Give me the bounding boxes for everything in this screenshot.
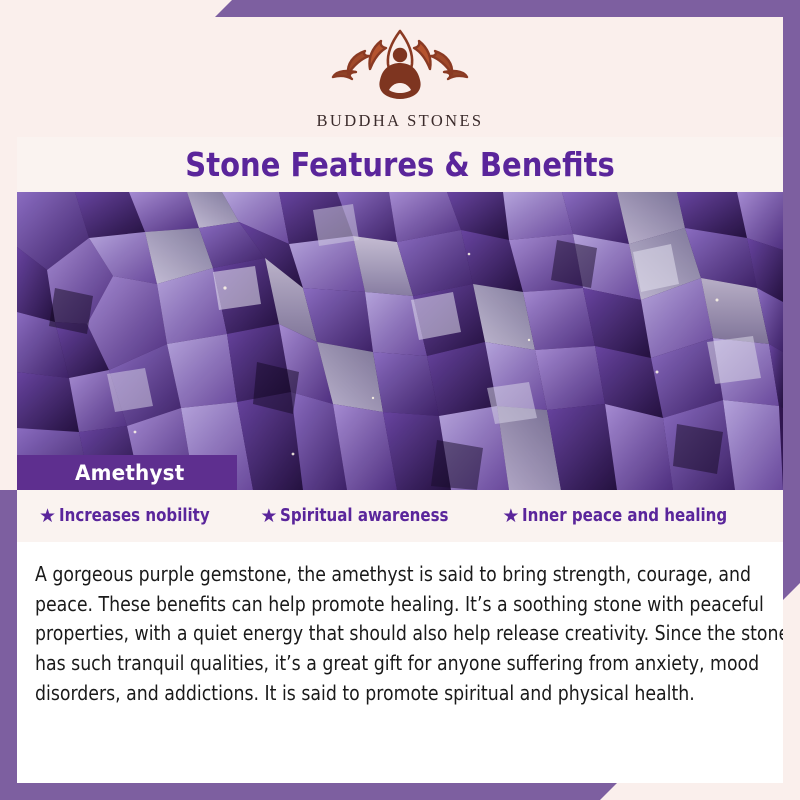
frame-band-right — [783, 0, 800, 600]
benefit-label: Spiritual awareness — [280, 506, 449, 526]
crystal-texture — [17, 192, 783, 490]
description-section: A gorgeous purple gemstone, the amethyst… — [17, 542, 783, 783]
stone-name-banner: Amethyst — [17, 455, 237, 490]
frame-band-top — [215, 0, 800, 17]
star-icon: ★ — [39, 507, 56, 526]
frame-band-left — [0, 490, 17, 800]
lotus-meditation-icon — [325, 25, 475, 109]
frame-band-bottom — [0, 783, 617, 800]
benefit-label: Inner peace and healing — [522, 506, 727, 526]
amethyst-crystal-cluster-photo: Amethyst — [17, 192, 783, 490]
page-title: Stone Features & Benefits — [185, 145, 614, 184]
benefit-label: Increases nobility — [59, 506, 210, 526]
brand-header: BUDDHA STONES — [17, 17, 783, 137]
star-icon: ★ — [502, 507, 519, 526]
brand-logo: BUDDHA STONES — [17, 25, 783, 131]
star-icon: ★ — [260, 507, 277, 526]
benefit-item-0: ★ Increases nobility — [39, 506, 234, 526]
stone-info-card: BUDDHA STONES Stone Features & Benefits — [0, 0, 800, 800]
title-bar: Stone Features & Benefits — [17, 137, 783, 192]
content-card: BUDDHA STONES Stone Features & Benefits — [17, 17, 783, 783]
description-text: A gorgeous purple gemstone, the amethyst… — [35, 560, 783, 708]
benefit-item-2: ★ Inner peace and healing — [502, 506, 761, 526]
benefits-list: ★ Increases nobility ★ Spiritual awarene… — [17, 490, 783, 542]
brand-name: BUDDHA STONES — [316, 111, 483, 131]
stone-name-label: Amethyst — [75, 461, 184, 485]
benefit-item-1: ★ Spiritual awareness — [260, 506, 476, 526]
